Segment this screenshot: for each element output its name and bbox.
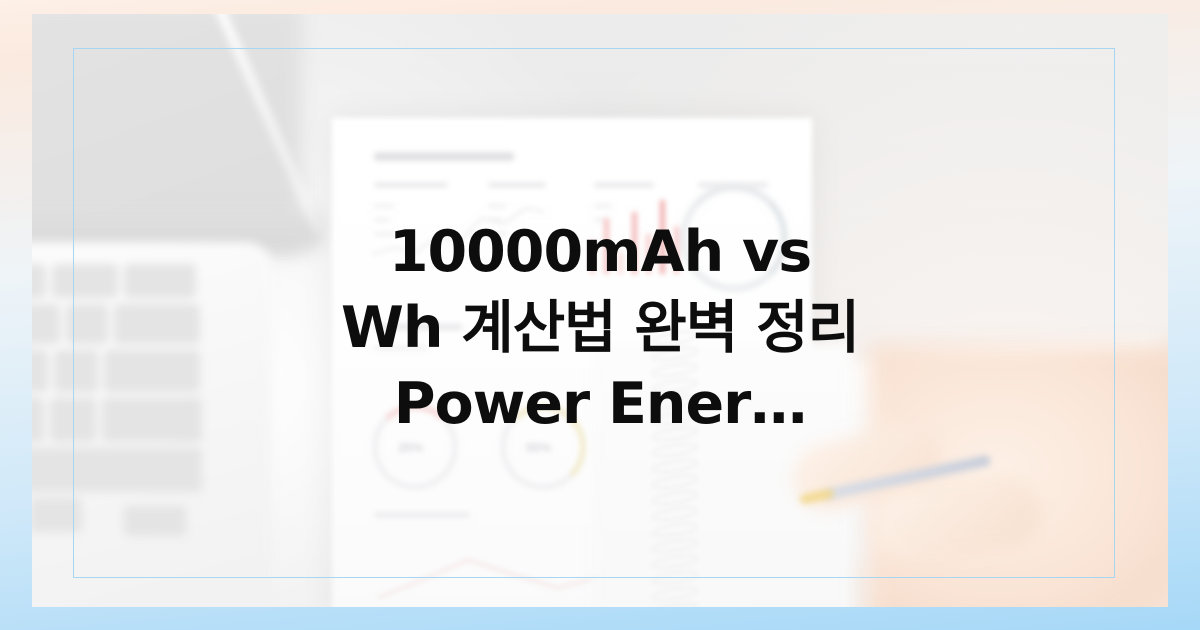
title-line-1: 10000mAh vs [40, 214, 1160, 290]
title-line-3: Power Ener… [40, 366, 1160, 442]
thumbnail-card: 25% 50% 75% [0, 0, 1200, 630]
gauge-25-label: 25% [398, 440, 423, 455]
gauge-50-label: 50% [526, 440, 551, 455]
title-line-2: Wh 계산법 완벽 정리 [40, 290, 1160, 366]
title-block: 10000mAh vs Wh 계산법 완벽 정리 Power Ener… [0, 214, 1200, 442]
